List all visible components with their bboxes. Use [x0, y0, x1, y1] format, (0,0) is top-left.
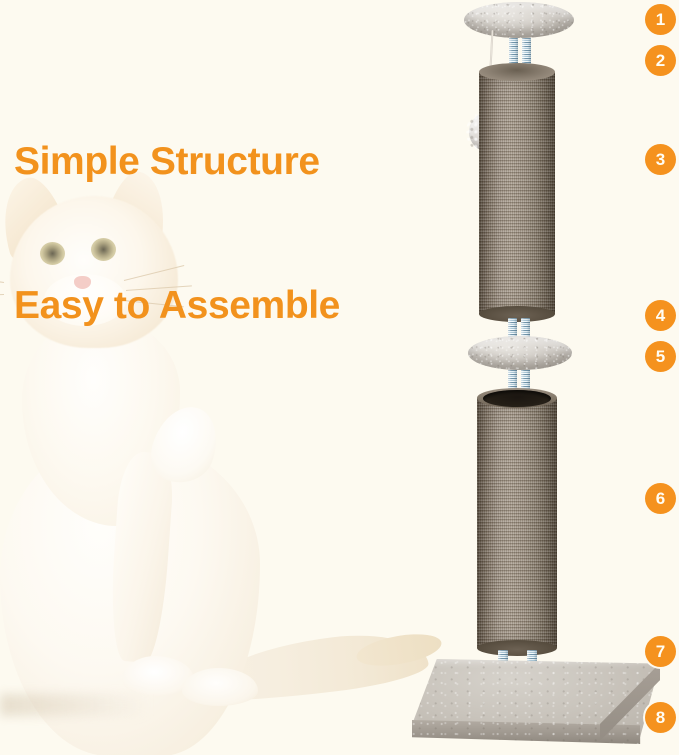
headline-line-2: Easy to Assemble [14, 282, 340, 330]
badge-label: 2 [656, 52, 665, 69]
badge-label: 7 [656, 643, 665, 660]
badge-label: 4 [656, 307, 665, 324]
lower-sisal-post [477, 398, 557, 648]
plush-texture [464, 2, 574, 38]
top-plush-disc [464, 2, 574, 38]
badge-label: 6 [656, 490, 665, 507]
badge-7-mounting-screws[interactable]: 7 [645, 636, 676, 667]
badge-label: 8 [656, 709, 665, 726]
middle-plush-disc [468, 336, 572, 370]
badge-2-threaded-screw[interactable]: 2 [645, 45, 676, 76]
badge-8-plush-base-board[interactable]: 8 [645, 702, 676, 733]
post-top-edge [479, 63, 555, 81]
plush-texture [468, 336, 572, 370]
badge-label: 1 [656, 11, 665, 28]
badge-1-top-plush-disc[interactable]: 1 [645, 4, 676, 35]
badge-4-threaded-screw[interactable]: 4 [645, 300, 676, 331]
badge-3-upper-sisal-post[interactable]: 3 [645, 144, 676, 175]
upper-sisal-post [479, 72, 555, 314]
badge-6-lower-sisal-post[interactable]: 6 [645, 483, 676, 514]
post-hollow-opening [483, 390, 551, 407]
headline-line-1: Simple Structure [14, 138, 340, 186]
infographic-canvas: Simple Structure Easy to Assemble 1 2 3 … [0, 0, 679, 755]
badge-label: 3 [656, 151, 665, 168]
page-title: Simple Structure Easy to Assemble [14, 42, 340, 426]
badge-5-middle-plush-disc[interactable]: 5 [645, 341, 676, 372]
post-bottom-edge [477, 640, 557, 656]
post-bottom-edge [479, 306, 555, 322]
badge-label: 5 [656, 348, 665, 365]
